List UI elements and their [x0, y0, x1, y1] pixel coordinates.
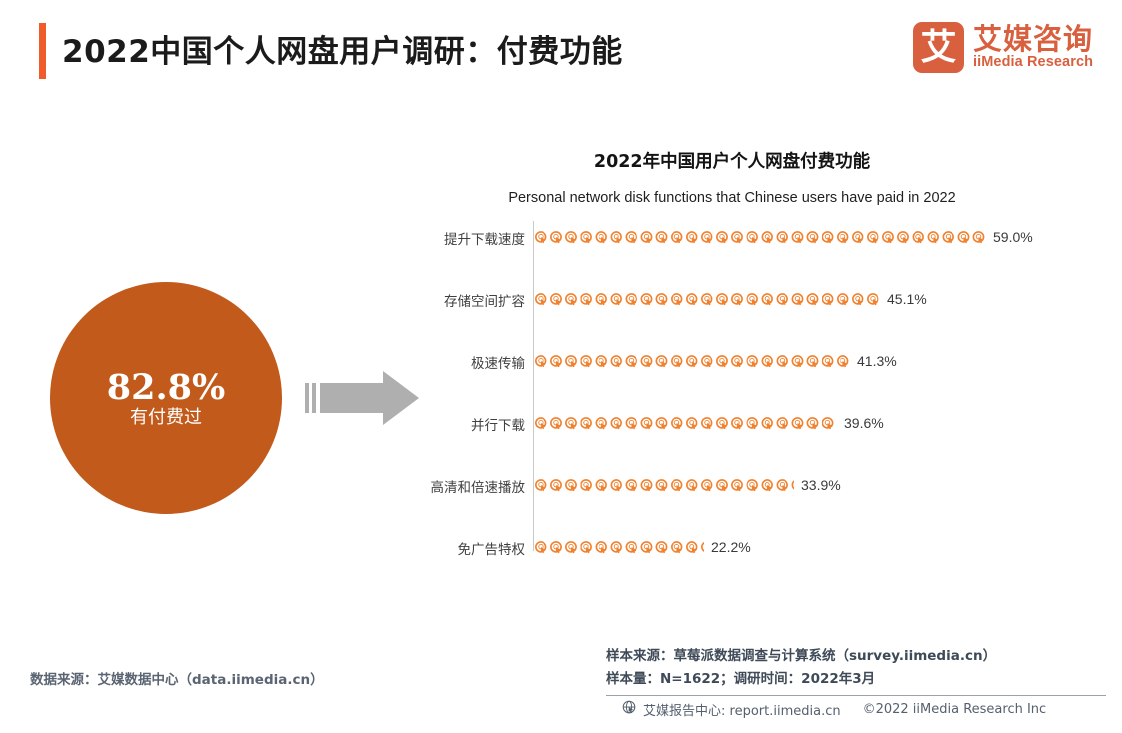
right-arrow-icon — [305, 367, 425, 429]
chart-row: 存储空间扩容45.1% — [432, 287, 1032, 313]
chart-row: 极速传输41.3% — [432, 349, 1032, 375]
footer-sample-info: 样本来源：草莓派数据调查与计算系统（survey.iimedia.cn） 样本量… — [606, 645, 1106, 691]
logo-name-en: iiMedia Research — [973, 54, 1093, 71]
logo-mark-glyph: 艾 — [913, 22, 964, 73]
footer-report-center: 艾媒报告中心: report.iimedia.cn — [643, 700, 841, 719]
highlight-stat-circle: 82.8% 有付费过 — [50, 282, 282, 514]
chart-row: 提升下载速度59.0% — [432, 225, 1032, 251]
chart-row-label: 提升下载速度 — [444, 228, 525, 248]
chart-row-value: 33.9% — [801, 477, 841, 493]
chart-row: 免广告特权22.2% — [432, 535, 1032, 561]
chart-row-label: 极速传输 — [471, 352, 525, 372]
chart-row-value: 39.6% — [844, 415, 884, 431]
footer-sample-source: 样本来源：草莓派数据调查与计算系统（survey.iimedia.cn） — [606, 645, 1106, 668]
logo-text: 艾媒咨询 iiMedia Research — [973, 24, 1093, 71]
footer-copyright: ©2022 iiMedia Research Inc — [863, 702, 1047, 717]
chart-row-bar — [534, 287, 880, 313]
chart-row: 并行下载39.6% — [432, 411, 1032, 437]
chart-row-bar — [534, 535, 704, 561]
title-accent-bar — [39, 23, 46, 79]
chart-row-label: 免广告特权 — [458, 538, 526, 558]
logo-name-cn: 艾媒咨询 — [973, 24, 1093, 54]
brand-logo: 艾 艾媒咨询 iiMedia Research — [913, 22, 1093, 73]
highlight-stat-label: 有付费过 — [130, 409, 202, 427]
logo-mark-icon: 艾 — [913, 22, 964, 73]
chart-row-bar — [534, 411, 837, 437]
chart-row-bar — [534, 349, 850, 375]
chart-row-label: 并行下载 — [471, 414, 525, 434]
page-title: 2022中国个人网盘用户调研：付费功能 — [62, 26, 623, 71]
chart-axis-line — [533, 221, 534, 551]
pictogram-chart: 2022年中国用户个人网盘付费功能 Personal network disk … — [432, 148, 1032, 568]
footer-sample-size: 样本量：N=1622；调研时间：2022年3月 — [606, 668, 1106, 691]
chart-subtitle: Personal network disk functions that Chi… — [402, 190, 1062, 206]
chart-title: 2022年中国用户个人网盘付费功能 — [432, 148, 1032, 173]
chart-row-value: 59.0% — [993, 229, 1033, 245]
chart-row-value: 45.1% — [887, 291, 927, 307]
globe-cursor-icon — [622, 700, 637, 719]
chart-row-label: 高清和倍速播放 — [431, 476, 526, 496]
chart-row: 高清和倍速播放33.9% — [432, 473, 1032, 499]
chart-row-bar — [534, 225, 986, 251]
chart-row-value: 41.3% — [857, 353, 897, 369]
footer-divider — [606, 695, 1106, 696]
chart-row-label: 存储空间扩容 — [444, 290, 525, 310]
footer-data-source: 数据来源：艾媒数据中心（data.iimedia.cn） — [30, 668, 324, 688]
chart-row-bar — [534, 473, 794, 499]
chart-plot-area: 提升下载速度59.0%存储空间扩容45.1%极速传输41.3%并行下载39.6%… — [432, 221, 1032, 551]
footer-credit: 艾媒报告中心: report.iimedia.cn ©2022 iiMedia … — [622, 700, 1046, 719]
highlight-stat-value: 82.8% — [107, 370, 226, 405]
page-header: 2022中国个人网盘用户调研：付费功能 艾 艾媒咨询 iiMedia Resea… — [0, 0, 1122, 100]
chart-row-value: 22.2% — [711, 539, 751, 555]
